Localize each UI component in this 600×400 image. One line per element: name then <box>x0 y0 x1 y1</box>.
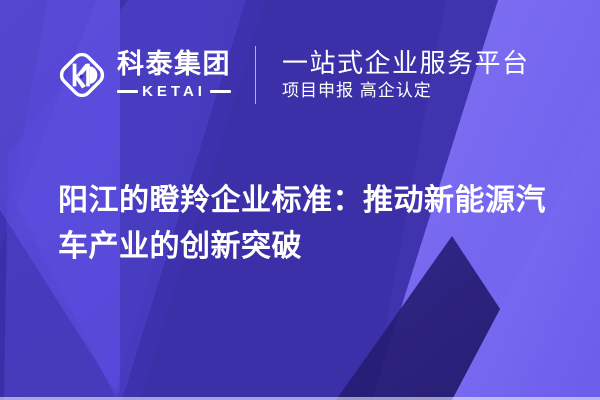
ketai-kt-monogram-icon <box>56 49 108 101</box>
banner-header: 科泰集团 KETAI 一站式企业服务平台 项目申报 高企认定 <box>0 0 600 150</box>
brand-wordmark: 科泰集团 KETAI <box>117 51 231 99</box>
brand-name-cn: 科泰集团 <box>117 51 231 78</box>
tagline-block: 一站式企业服务平台 项目申报 高企认定 <box>282 49 530 100</box>
tagline-primary: 一站式企业服务平台 <box>282 49 530 77</box>
brand-logo[interactable]: 科泰集团 KETAI <box>56 49 231 101</box>
wordmark-rule-right <box>210 90 231 93</box>
tagline-secondary: 项目申报 高企认定 <box>282 82 530 100</box>
header-divider <box>255 46 256 104</box>
wordmark-rule-left <box>117 90 138 93</box>
promo-banner: 科泰集团 KETAI 一站式企业服务平台 项目申报 高企认定 阳江的瞪羚企业标准… <box>0 0 600 400</box>
brand-name-en: KETAI <box>142 84 206 99</box>
brand-name-en-row: KETAI <box>117 84 231 99</box>
page-title: 阳江的瞪羚企业标准：推动新能源汽车产业的创新突破 <box>58 178 558 269</box>
